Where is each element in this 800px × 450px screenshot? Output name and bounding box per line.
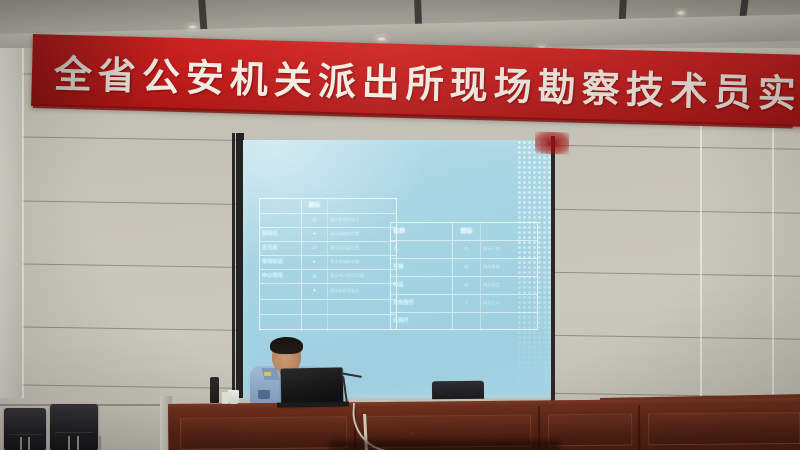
wall-left-column: [0, 48, 22, 408]
shoulder-badge-icon: [264, 372, 271, 376]
row-icon: ▱: [302, 242, 328, 255]
table-row: 现场标志 ▸ 表示现场标志物: [260, 256, 396, 270]
row-icon: ◇: [453, 259, 481, 276]
desk-panel: [180, 416, 347, 450]
row-note: [328, 300, 396, 314]
table-row: [260, 300, 396, 315]
downlight-icon: [375, 36, 388, 42]
row-name: [260, 315, 302, 331]
table-row: 人 ◇ 表示人体: [391, 241, 537, 259]
table-header-row: 图标: [260, 199, 396, 214]
table-row: 方向指引 ↑ 表示方向: [391, 295, 537, 313]
chair-leg: [99, 436, 101, 450]
row-note: 表示照相机位置: [328, 228, 396, 241]
lecture-hall-photo: 图标 ◇ 表示勘查起始点 照相机 ⌖ 表示照相机位置 反光板 ▱ 表示反光板位置…: [0, 0, 800, 450]
desk-panel: [648, 412, 800, 445]
row-icon: ↑: [453, 295, 481, 312]
chair-seam: [8, 434, 42, 435]
row-icon: [453, 313, 481, 330]
table-row: ◇ 表示勘查起始点: [260, 214, 396, 228]
row-name: 中心现场: [260, 270, 302, 283]
table-header-row: 名称 图标: [391, 223, 537, 241]
wall-vertical-seam: [700, 120, 702, 405]
row-icon: ✦: [302, 284, 328, 299]
row-icon: ◇: [453, 241, 481, 258]
downlight-icon: [676, 10, 686, 16]
row-name: 照相机: [260, 228, 302, 241]
row-icon: [302, 315, 328, 331]
header-icon: 图标: [453, 223, 481, 240]
row-note: 表示中心现场范围: [328, 270, 396, 283]
table-row: [260, 315, 396, 331]
table-row: 中心现场 △ 表示中心现场范围: [260, 270, 396, 284]
header-note: [328, 199, 396, 213]
wall-vertical-seam: [772, 120, 774, 405]
chair-leg: [77, 436, 79, 450]
foreground-shadow: [330, 440, 560, 450]
row-icon: ▸: [302, 256, 328, 269]
chair: [50, 404, 98, 450]
desk-divider: [638, 405, 640, 450]
slide-left-table: 图标 ◇ 表示勘查起始点 照相机 ⌖ 表示照相机位置 反光板 ▱ 表示反光板位置…: [259, 198, 397, 330]
banner-emblem-icon: [535, 132, 570, 155]
chair-seam: [55, 432, 93, 433]
row-icon: △: [302, 270, 328, 283]
row-name: 人: [391, 241, 453, 258]
table-row: 比例尺: [391, 313, 537, 330]
row-note: 表示人体: [481, 241, 537, 258]
row-icon: [302, 300, 328, 314]
row-icon: ⌖: [302, 228, 328, 241]
chair-leg: [20, 437, 22, 450]
row-note: 表示反光板位置: [328, 242, 396, 255]
row-note: 表示车辆: [481, 259, 537, 276]
header-name: [260, 199, 302, 213]
wall-dark-edge: [551, 136, 555, 402]
downlight-icon: [186, 24, 199, 30]
table-row: 反光板 ▱ 表示反光板位置: [260, 242, 396, 256]
wall-vertical-seam: [22, 48, 24, 408]
desk-panel: [548, 414, 632, 447]
row-icon: ◇: [302, 214, 328, 227]
row-note: [328, 315, 396, 331]
row-note: 表示勘查起始点: [328, 214, 396, 227]
header-icon: 图标: [302, 199, 328, 213]
row-note: [481, 313, 537, 330]
row-name: 方向指引: [391, 295, 453, 312]
chair-leg: [68, 436, 70, 450]
row-note: 表示物证提取点: [328, 284, 396, 299]
table-row: ✦ 表示物证提取点: [260, 284, 396, 300]
wall-dark-edge: [232, 133, 235, 401]
water-bottle: [210, 377, 219, 403]
presenter-hair: [270, 337, 303, 354]
row-name: [260, 300, 302, 314]
slide-right-table: 名称 图标 人 ◇ 表示人体 车辆 ◇ 表示车辆 物品 ◇ 表示物品 方向指引: [390, 222, 538, 330]
chair-leg: [28, 437, 30, 450]
table-row: 照相机 ⌖ 表示照相机位置: [260, 228, 396, 242]
row-name: 现场标志: [260, 256, 302, 269]
paper-cup: [228, 390, 239, 404]
uniform-emblem-icon: [258, 390, 270, 399]
row-name: 反光板: [260, 242, 302, 255]
row-name: 比例尺: [391, 313, 453, 330]
table-row: 物品 ◇ 表示物品: [391, 277, 537, 295]
header-name: 名称: [391, 223, 453, 240]
table-row: 车辆 ◇ 表示车辆: [391, 259, 537, 277]
row-icon: ◇: [453, 277, 481, 294]
header-note: [481, 223, 537, 240]
row-name: 车辆: [391, 259, 453, 276]
row-note: 表示方向: [481, 295, 537, 312]
row-note: 表示现场标志物: [328, 256, 396, 269]
row-note: 表示物品: [481, 277, 537, 294]
row-name: 物品: [391, 277, 453, 294]
chair-behind-desk: [432, 381, 484, 400]
row-name: [260, 284, 302, 299]
chair: [4, 408, 46, 450]
row-name: [260, 214, 302, 227]
